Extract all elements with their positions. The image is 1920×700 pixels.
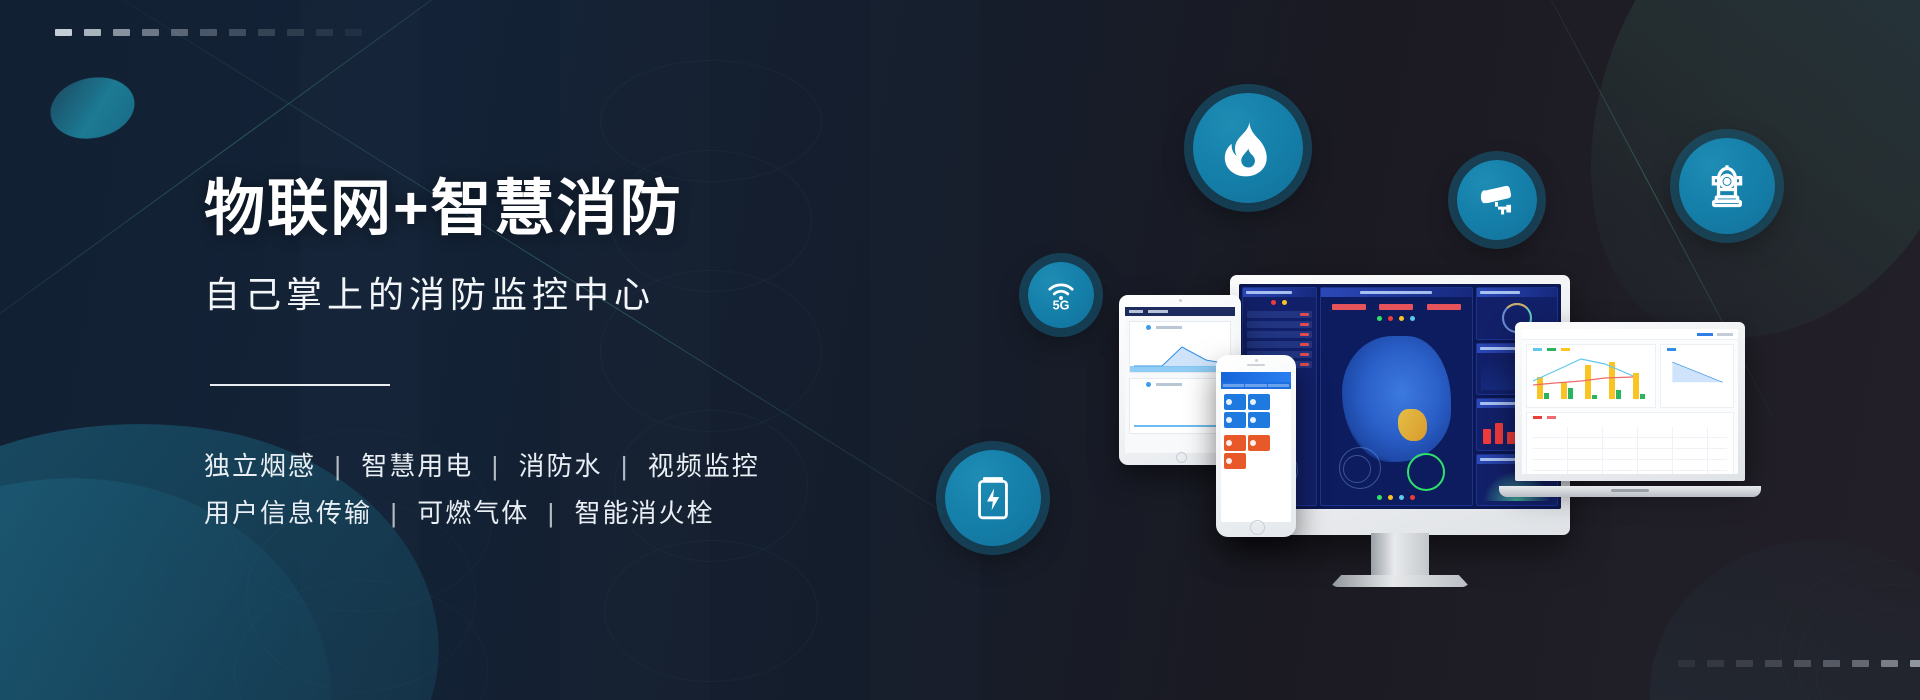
- dash: [1736, 660, 1753, 667]
- area-chart-card: [1660, 344, 1734, 408]
- laptop-base: [1499, 486, 1761, 497]
- battery-charge-icon: [945, 450, 1041, 546]
- dash: [1678, 660, 1695, 667]
- dash: [142, 29, 159, 36]
- device-tile[interactable]: [1224, 412, 1246, 428]
- bg-mesh-rings: [600, 60, 820, 660]
- page-title: 物联网+智慧消防: [204, 178, 683, 239]
- feature-separator: |: [539, 498, 566, 528]
- chart-bullet: [1146, 382, 1151, 387]
- decor-dash-row-top-left: [55, 29, 362, 36]
- phone-screen: [1221, 372, 1291, 522]
- hero-banner: 物联网+智慧消防 自己掌上的消防监控中心 独立烟感 | 智慧用电 | 消防水 |…: [0, 0, 1920, 700]
- flame-icon: [1193, 93, 1303, 203]
- alarm-row: [1247, 311, 1312, 318]
- feature-item: 用户信息传输: [204, 498, 372, 528]
- cctv-camera-icon: [1457, 160, 1537, 240]
- panel-header: [1321, 288, 1472, 297]
- bg-wave-bottom-left-secondary: [0, 452, 350, 700]
- alarm-tile[interactable]: [1224, 453, 1246, 469]
- laptop-device: [1515, 322, 1745, 497]
- device-tile-grid-orange: [1221, 433, 1291, 471]
- monitor-stand-base: [1330, 575, 1470, 587]
- dash: [1765, 660, 1782, 667]
- feature-item: 智能消火栓: [575, 498, 715, 528]
- chart-row: [1526, 344, 1734, 408]
- feature-item: 视频监控: [648, 451, 760, 481]
- feature-separator: |: [483, 451, 510, 481]
- chart-bullet: [1146, 325, 1151, 330]
- device-tile[interactable]: [1248, 412, 1270, 428]
- device-tile[interactable]: [1248, 394, 1270, 410]
- panel-header: [1243, 288, 1316, 297]
- chart-title-bar: [1156, 383, 1182, 386]
- dash: [287, 29, 304, 36]
- dash: [1910, 660, 1920, 667]
- svg-text:5G: 5G: [1053, 298, 1070, 311]
- map-legend: [1321, 313, 1472, 324]
- device-tile[interactable]: [1224, 394, 1246, 410]
- data-table-card: [1526, 412, 1734, 474]
- fire-hydrant-icon: [1679, 138, 1775, 234]
- dash: [1852, 660, 1869, 667]
- feature-list-line-1: 独立烟感 | 智慧用电 | 消防水 | 视频监控: [204, 446, 760, 483]
- dash: [84, 29, 101, 36]
- device-tile-grid-blue: [1221, 392, 1291, 430]
- chart-legend: [1533, 416, 1556, 419]
- feature-item: 消防水: [519, 451, 603, 481]
- tablet-camera-dot: [1179, 299, 1182, 302]
- alarm-row: [1247, 341, 1312, 348]
- feature-separator: |: [325, 451, 352, 481]
- kpi-row: [1321, 297, 1472, 313]
- dash: [1707, 660, 1724, 667]
- table-grid: [1533, 427, 1727, 474]
- feature-item: 智慧用电: [361, 451, 473, 481]
- alarm-tile[interactable]: [1224, 435, 1246, 451]
- dash: [229, 29, 246, 36]
- bg-ellipse-blob: [45, 70, 141, 146]
- laptop-lid: [1515, 322, 1745, 481]
- dash: [345, 29, 362, 36]
- alarm-row: [1247, 321, 1312, 328]
- phone-speaker: [1247, 364, 1265, 366]
- chart-legend: [1667, 348, 1676, 351]
- chart-legend: [1533, 348, 1570, 351]
- dashboard-map-panel: [1320, 287, 1473, 506]
- bg-tower-stripe: [300, 0, 420, 700]
- alarm-tile[interactable]: [1248, 435, 1270, 451]
- china-map-graphic: [1342, 336, 1451, 462]
- phone-home-button[interactable]: [1250, 520, 1265, 535]
- tablet-home-button[interactable]: [1176, 452, 1187, 463]
- bg-wave-bottom-left: [0, 379, 466, 700]
- feature-separator: |: [381, 498, 408, 528]
- bottom-legend: [1321, 492, 1472, 503]
- page-subtitle: 自己掌上的消防监控中心: [204, 277, 655, 313]
- smartphone-device: [1216, 355, 1296, 537]
- declining-area-chart: [1669, 361, 1725, 383]
- app-tabbar[interactable]: [1221, 382, 1291, 389]
- monitor-stand-neck: [1371, 533, 1429, 579]
- dash: [1823, 660, 1840, 667]
- chart-axis: [1130, 366, 1230, 372]
- panel-header: [1477, 288, 1557, 297]
- bar-line-combo-chart-card: [1526, 344, 1656, 408]
- bg-tower-stripe: [560, 0, 710, 700]
- title-divider: [210, 384, 390, 386]
- tablet-topbar: [1125, 307, 1235, 316]
- bg-tower-stripe: [870, 0, 980, 700]
- chart-title-bar: [1156, 326, 1182, 329]
- app-titlebar: [1221, 372, 1291, 382]
- decor-dash-row-bottom-right: [1678, 660, 1920, 667]
- device-mockup-cluster: [1120, 280, 1800, 580]
- feature-item: 独立烟感: [204, 451, 316, 481]
- dash: [113, 29, 130, 36]
- alarm-row: [1247, 331, 1312, 338]
- dash: [171, 29, 188, 36]
- panel-legend: [1243, 297, 1316, 308]
- dashboard-toolbar: [1522, 329, 1738, 340]
- phone-camera-dot: [1255, 359, 1258, 362]
- feature-separator: |: [612, 451, 639, 481]
- laptop-screen: [1522, 329, 1738, 474]
- dash: [1794, 660, 1811, 667]
- feature-list-line-2: 用户信息传输 | 可燃气体 | 智能消火栓: [204, 493, 715, 530]
- dash: [316, 29, 333, 36]
- dash: [55, 29, 72, 36]
- bg-mesh-rings: [1780, 560, 1920, 700]
- dash: [258, 29, 275, 36]
- bar-series: [1533, 357, 1649, 399]
- dash: [1881, 660, 1898, 667]
- feature-item: 可燃气体: [417, 498, 529, 528]
- 5g-signal-icon: 5G: [1028, 262, 1094, 328]
- dash: [200, 29, 217, 36]
- status-gauge-ring: [1407, 453, 1445, 491]
